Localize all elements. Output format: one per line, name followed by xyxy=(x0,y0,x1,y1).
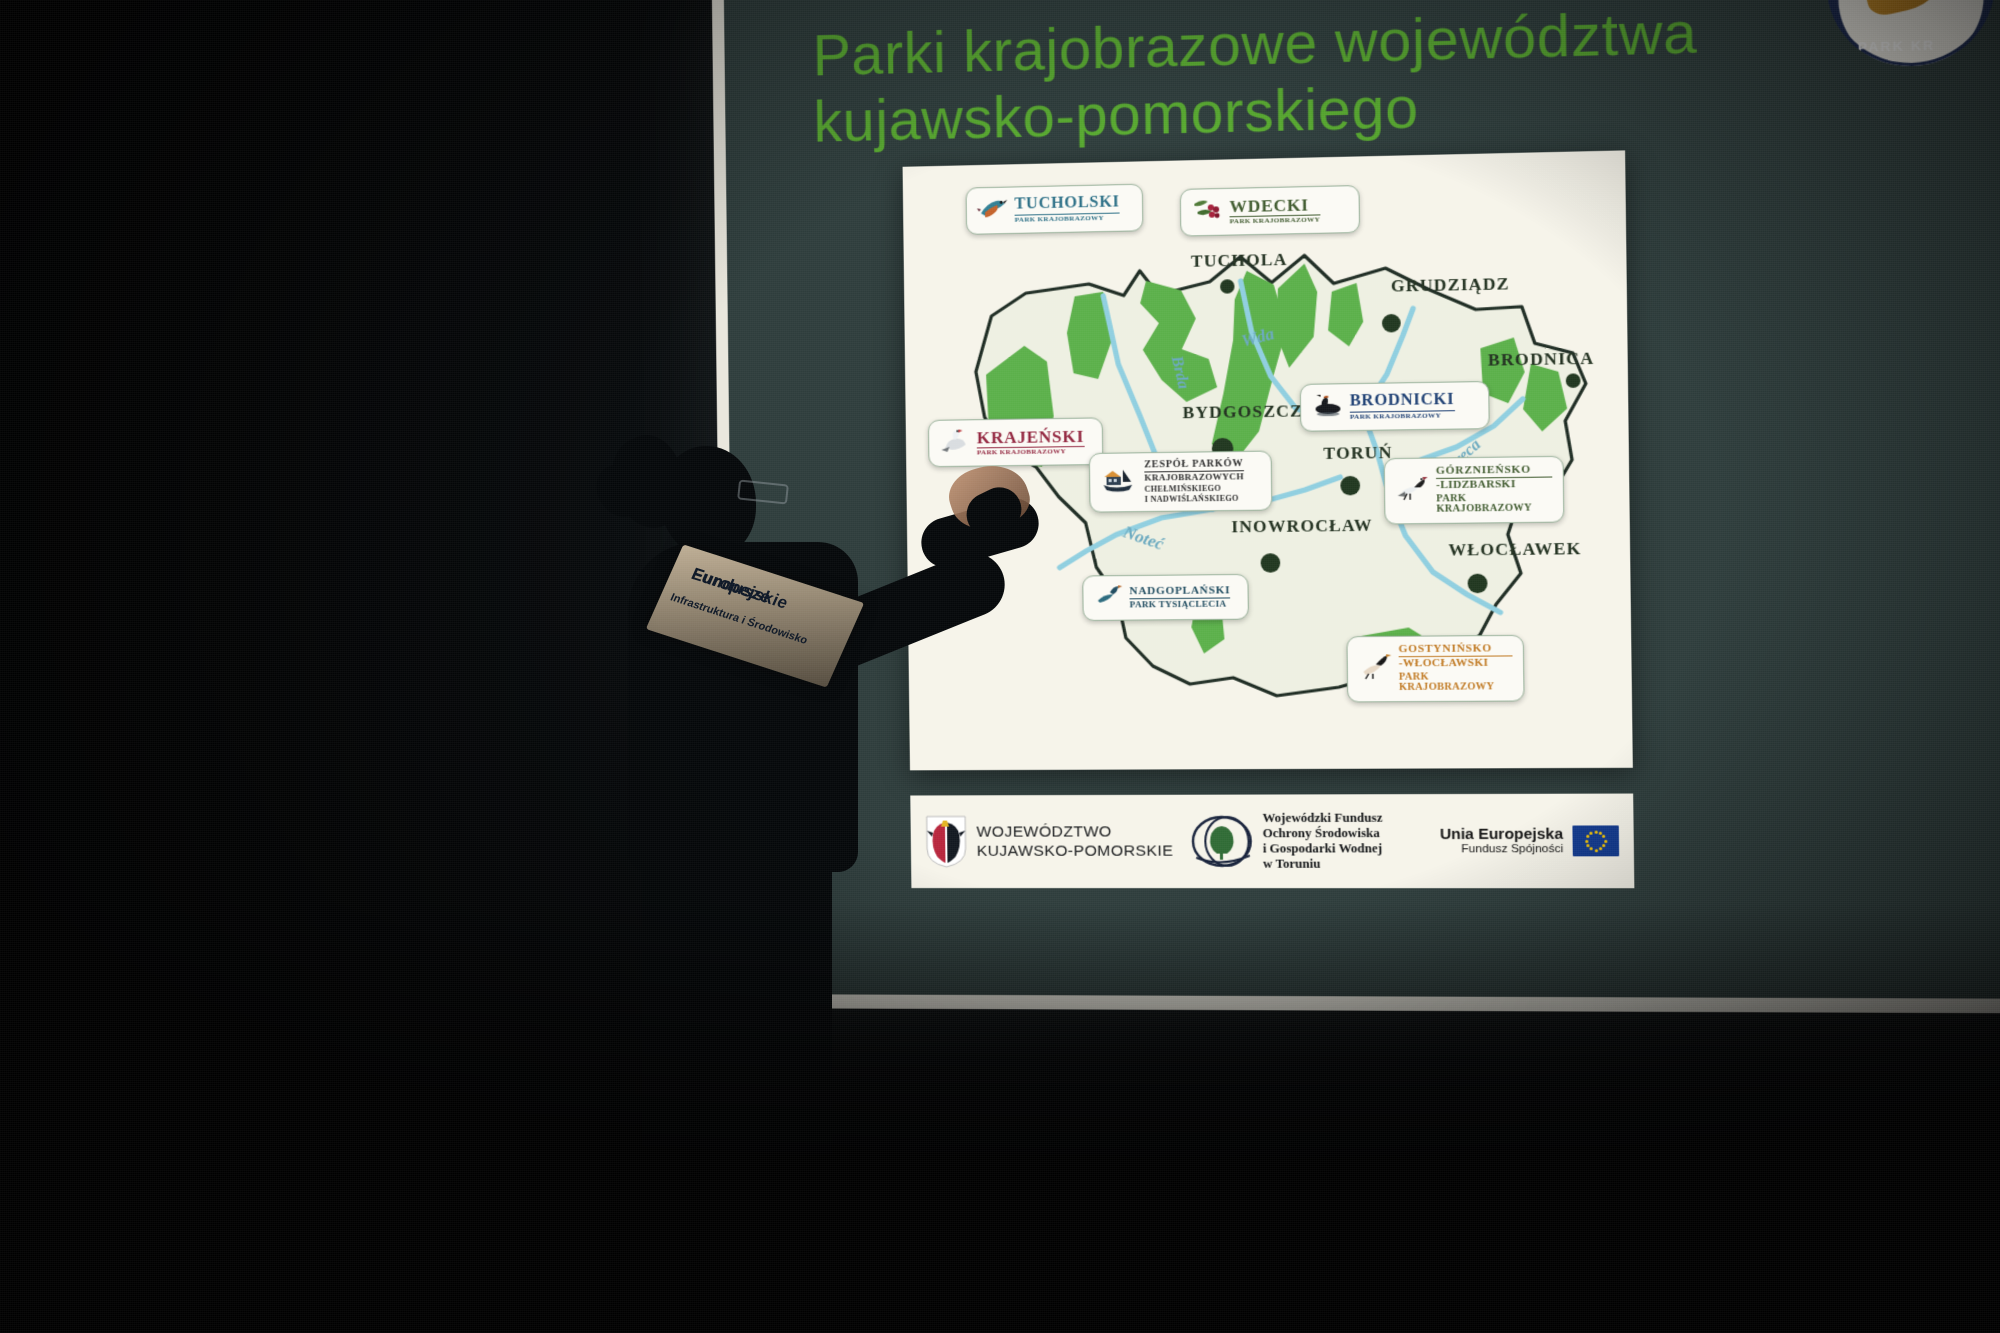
park-emblem-icon: GO PARK KR xyxy=(1826,0,1996,68)
park-badge-name: BRODNICKI xyxy=(1350,392,1455,411)
slide-title: Parki krajobrazowe województwa kujawsko-… xyxy=(812,0,1882,156)
city-label-toruń: TORUŃ xyxy=(1323,443,1392,464)
heron-icon xyxy=(1358,653,1392,685)
park-badge-subtitle: PARK KRAJOBRAZOWY xyxy=(1350,410,1455,421)
berries-icon xyxy=(1191,196,1222,228)
presentation-photo: Parki krajobrazowe województwa kujawsko-… xyxy=(0,0,2000,1333)
park-badge-line4: I NADWIŚLAŃSKIEGO xyxy=(1145,494,1245,505)
slide: Parki krajobrazowe województwa kujawsko-… xyxy=(724,0,2000,999)
wfos-tree-icon xyxy=(1189,813,1254,870)
park-badge-gorzniensko[interactable]: GÓRZNIEŃSKO-LIDZBARSKIPARK KRAJOBRAZOWY xyxy=(1384,456,1565,524)
park-badge-name: WDECKI xyxy=(1229,196,1320,216)
park-badge-name: TUCHOLSKI xyxy=(1014,194,1119,213)
park-badge-nadgoplanski[interactable]: NADGOPLAŃSKIPARK TYSIĄCLECIA xyxy=(1082,574,1249,621)
city-label-inowrocław: INOWROCŁAW xyxy=(1231,516,1373,538)
park-badge-name: KRAJEŃSKI xyxy=(977,427,1085,446)
footer-logos: WOJEWÓDZTWO KUJAWSKO-POMORSKIE Wojewódzk… xyxy=(910,794,1634,889)
room-foreground-shadow xyxy=(0,903,2000,1333)
wfos-logo: Wojewódzki Fundusz Ochrony Środowiska i … xyxy=(1189,811,1383,872)
eu-flag-icon xyxy=(1572,825,1619,856)
park-badge-brodnicki[interactable]: BRODNICKIPARK KRAJOBRAZOWY xyxy=(1300,381,1490,432)
park-badge-name: NADGOPLAŃSKI xyxy=(1129,585,1230,598)
park-badge-subtitle: PARK KRAJOBRAZOWY xyxy=(1015,212,1120,224)
park-badge-subtitle: KRAJOBRAZOWYCH xyxy=(1144,471,1244,484)
park-badge-subtitle: PARK TYSIĄCLECIA xyxy=(1129,597,1230,609)
park-badge-name: ZESPÓŁ PARKÓW xyxy=(1144,459,1244,471)
grebe-icon xyxy=(1311,391,1342,423)
projection-screen: Parki krajobrazowe województwa kujawsko-… xyxy=(712,0,2000,1013)
eu-logo: Unia Europejska Fundusz Spójności xyxy=(1440,825,1619,856)
map-card: TUCHOLAGRUDZIĄDZBRODNICABYDGOSZCZTORUŃIN… xyxy=(903,150,1633,770)
corner-emblem-bottom-text: PARK KR xyxy=(1858,37,1936,55)
boat-icon xyxy=(1100,466,1137,500)
park-badge-wdecki[interactable]: WDECKIPARK KRAJOBRAZOWY xyxy=(1180,185,1360,237)
coat-of-arms-icon xyxy=(925,814,968,868)
wfos-line3: i Gospodarki Wodnej xyxy=(1263,841,1383,856)
voivodeship-line1: WOJEWÓDZTWO xyxy=(976,822,1173,842)
city-label-tuchola: TUCHOLA xyxy=(1191,250,1288,272)
park-badge-line3: PARK KRAJOBRAZOWY xyxy=(1436,492,1553,516)
park-badge-subtitle: PARK KRAJOBRAZOWY xyxy=(1230,215,1321,226)
eu-line1: Unia Europejska xyxy=(1440,825,1563,843)
voivodeship-logo: WOJEWÓDZTWO KUJAWSKO-POMORSKIE xyxy=(925,814,1174,869)
park-badge-name: GOSTYNIŃSKO xyxy=(1398,643,1512,656)
city-dot-toruń xyxy=(1340,476,1360,496)
wfos-line1: Wojewódzki Fundusz xyxy=(1262,811,1382,826)
city-label-włocławek: WŁOCŁAWEK xyxy=(1448,539,1581,561)
park-badge-line3: PARK KRAJOBRAZOWY xyxy=(1399,671,1513,694)
park-badge-krajenski[interactable]: KRAJEŃSKIPARK KRAJOBRAZOWY xyxy=(928,417,1103,467)
eu-line2: Fundusz Spójności xyxy=(1440,843,1563,857)
park-badge-gostyninsko[interactable]: GOSTYNIŃSKO-WŁOCŁAWSKIPARK KRAJOBRAZOWY xyxy=(1346,635,1524,702)
kingfisher-icon xyxy=(977,195,1008,227)
city-dot-włocławek xyxy=(1468,574,1488,594)
park-badge-name: GÓRZNIEŃSKO xyxy=(1436,464,1552,477)
park-badge-subtitle: -WŁOCŁAWSKI xyxy=(1399,656,1513,671)
city-label-brodnica: BRODNICA xyxy=(1488,348,1595,370)
park-badge-subtitle: -LIDZBARSKI xyxy=(1436,477,1552,492)
wfos-line2: Ochrony Środowiska xyxy=(1263,826,1383,841)
park-badge-tucholski[interactable]: TUCHOLSKIPARK KRAJOBRAZOWY xyxy=(966,184,1144,235)
city-label-grudziądz: GRUDZIĄDZ xyxy=(1391,274,1510,297)
wfos-line4: w Toruniu xyxy=(1263,856,1383,871)
stork-icon xyxy=(1395,475,1429,507)
bird-icon xyxy=(1094,583,1123,613)
city-label-bydgoszcz: BYDGOSZCZ xyxy=(1182,401,1303,423)
voivodeship-line2: KUJAWSKO-POMORSKIE xyxy=(977,841,1174,861)
park-badge-zespol[interactable]: ZESPÓŁ PARKÓWKRAJOBRAZOWYCHCHEŁMIŃSKIEGO… xyxy=(1089,451,1273,514)
park-badge-line3: CHEŁMIŃSKIEGO xyxy=(1144,483,1244,494)
swan-icon xyxy=(939,427,970,459)
city-dot-inowrocław xyxy=(1261,553,1281,573)
park-badge-subtitle: PARK KRAJOBRAZOWY xyxy=(977,446,1084,457)
